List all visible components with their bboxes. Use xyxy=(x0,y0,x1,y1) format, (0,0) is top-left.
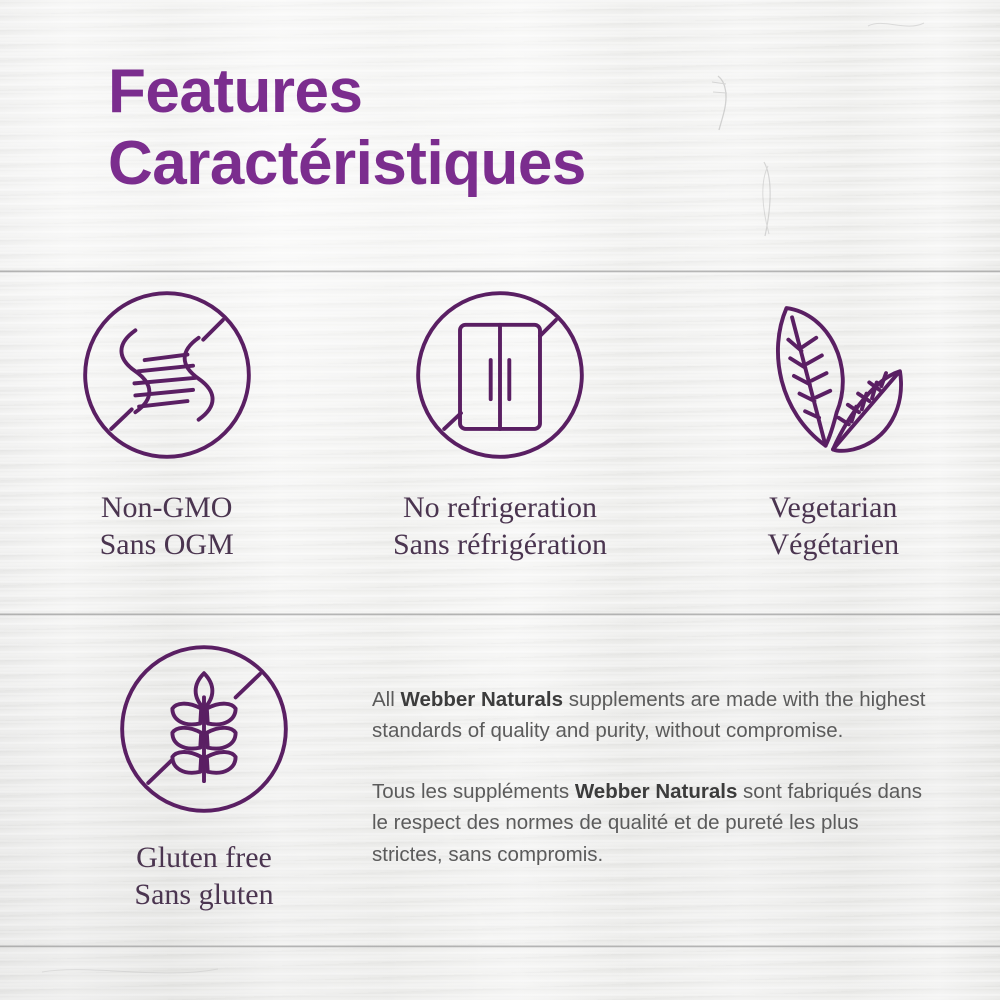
wood-grain-mark-icon xyxy=(866,12,926,38)
label-fr: Sans gluten xyxy=(134,877,273,914)
title-french: Caractéristiques xyxy=(108,134,868,194)
copy-en-before: All xyxy=(372,688,400,711)
page-title: Features Caractéristiques xyxy=(108,62,868,193)
brand-name-fr: Webber Naturals xyxy=(575,780,738,803)
feature-gluten-free: Gluten free Sans gluten xyxy=(96,636,312,913)
label-en: Non-GMO xyxy=(101,491,233,524)
brand-copy-block: All Webber Naturals supplements are made… xyxy=(372,684,932,870)
no-gmo-dna-icon xyxy=(74,282,260,468)
feature-row-bottom: Gluten free Sans gluten All Webber Natur… xyxy=(0,628,1000,948)
label-fr: Sans OGM xyxy=(100,527,234,564)
gluten-free-wheat-icon xyxy=(111,636,297,822)
feature-label-non-gmo: Non-GMO Sans OGM xyxy=(100,490,234,563)
no-refrigeration-fridge-icon xyxy=(407,282,593,468)
copy-fr-before: Tous les suppléments xyxy=(372,780,575,803)
plank-seam xyxy=(0,613,1000,616)
feature-label-vegetarian: Vegetarian Végétarien xyxy=(768,490,900,563)
vegetarian-leaves-icon xyxy=(740,282,926,468)
label-en: Vegetarian xyxy=(769,491,897,524)
feature-vegetarian: Vegetarian Végétarien xyxy=(667,282,1000,592)
feature-non-gmo: Non-GMO Sans OGM xyxy=(0,282,333,592)
label-fr: Sans réfrigération xyxy=(393,527,607,564)
brand-name-en: Webber Naturals xyxy=(400,688,563,711)
plank-seam xyxy=(0,270,1000,273)
feature-label-gluten-free: Gluten free Sans gluten xyxy=(134,840,273,913)
feature-row-top: Non-GMO Sans OGM xyxy=(0,282,1000,592)
label-en: Gluten free xyxy=(136,841,272,874)
wood-grain-mark-icon xyxy=(40,960,220,986)
brand-copy-english: All Webber Naturals supplements are made… xyxy=(372,684,932,746)
feature-no-refrigeration: No refrigeration Sans réfrigération xyxy=(333,282,666,592)
feature-label-no-refrigeration: No refrigeration Sans réfrigération xyxy=(393,490,607,563)
features-panel: Features Caractéristiques xyxy=(0,0,1000,1000)
label-fr: Végétarien xyxy=(768,527,900,564)
title-english: Features xyxy=(108,62,868,122)
label-en: No refrigeration xyxy=(403,491,597,524)
brand-copy-french: Tous les suppléments Webber Naturals son… xyxy=(372,776,932,869)
